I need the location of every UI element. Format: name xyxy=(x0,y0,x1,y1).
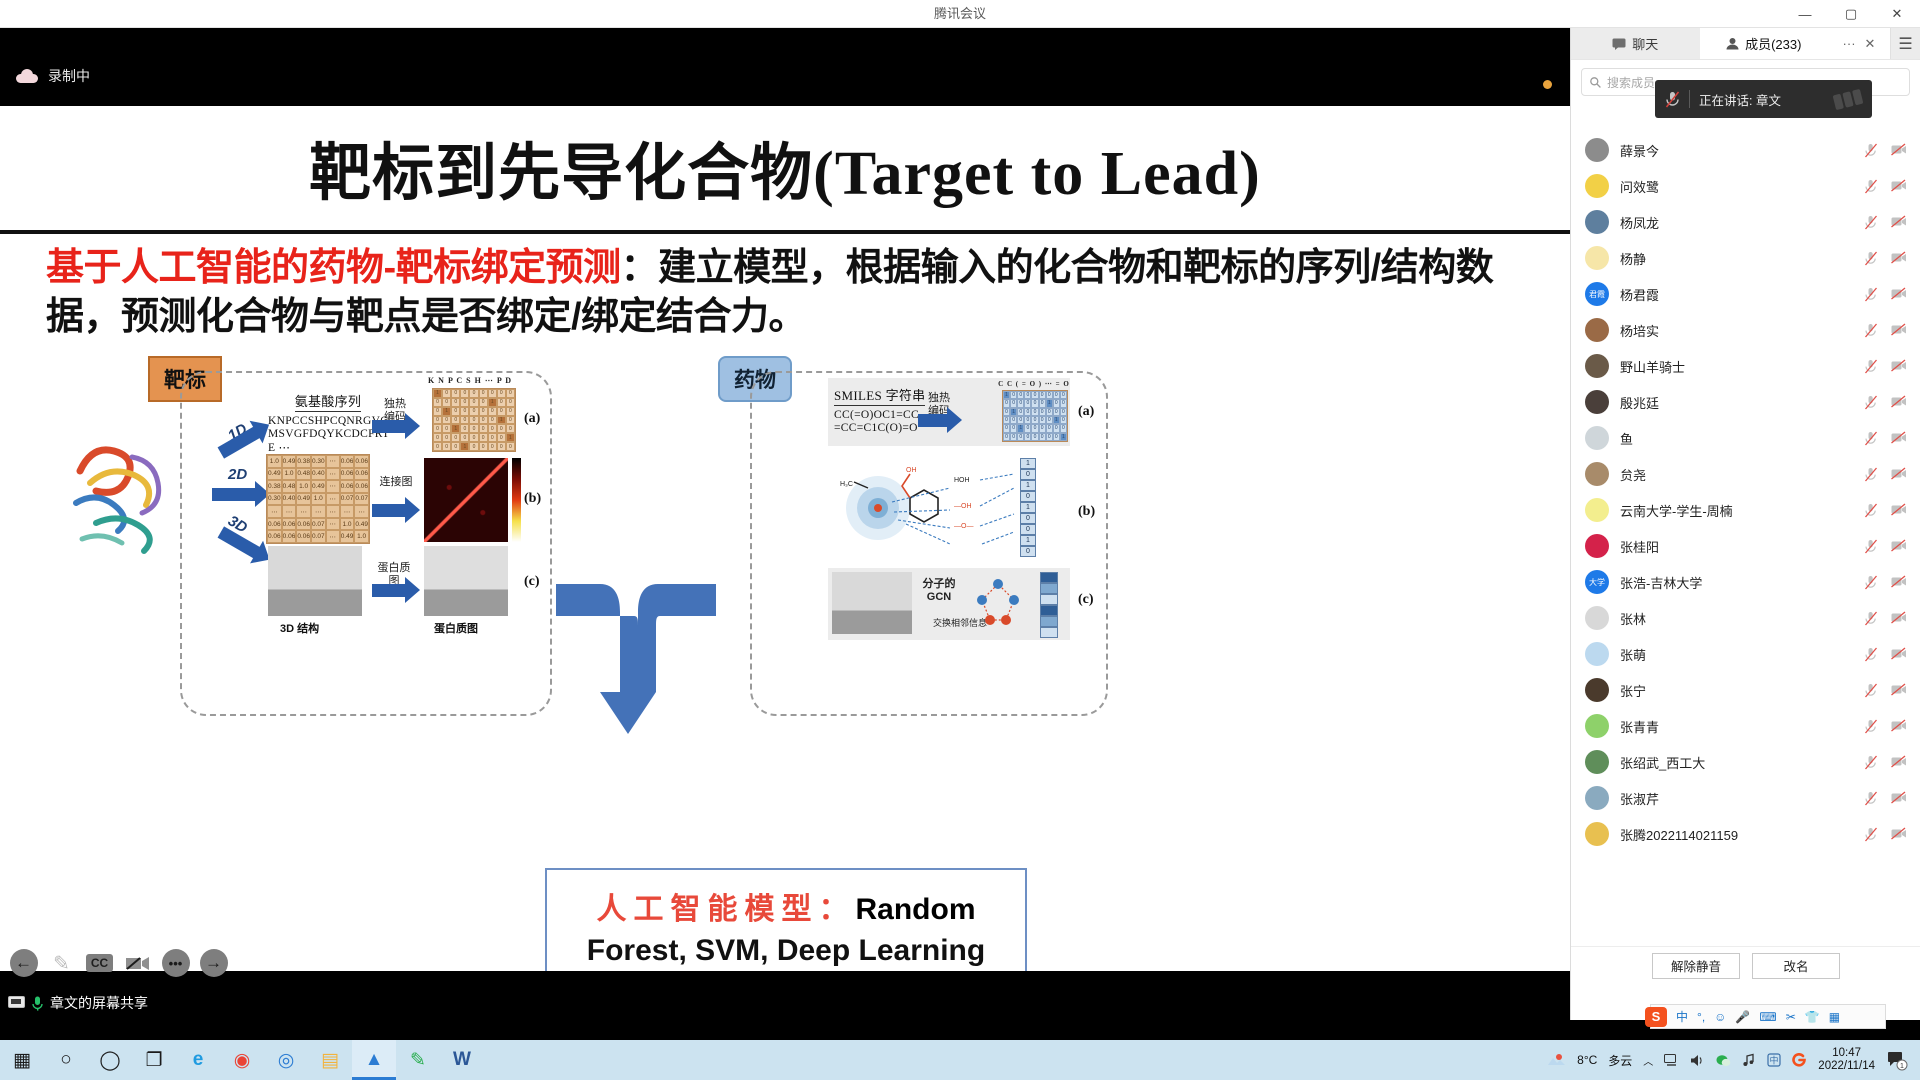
matrix-cell: 0 xyxy=(460,407,469,416)
matrix-cell: 1 xyxy=(1046,399,1053,407)
camera-off-icon[interactable] xyxy=(1891,791,1907,804)
distance-cell: ⋯ xyxy=(311,505,326,518)
participant-name: 张青青 xyxy=(1620,717,1659,736)
mic-off-icon[interactable] xyxy=(1864,359,1878,374)
recording-indicator: 录制中 xyxy=(16,66,90,86)
participant-status-icons xyxy=(1864,503,1907,518)
matrix-cell: 0 xyxy=(1039,416,1046,424)
distance-cell: ⋯ xyxy=(282,505,297,518)
clock-date: 2022/11/14 xyxy=(1818,1060,1875,1073)
matrix-cell: 0 xyxy=(451,407,460,416)
panel-menu-button[interactable]: ☰ xyxy=(1890,28,1920,59)
camera-off-icon[interactable] xyxy=(1891,539,1907,552)
camera-off-icon[interactable] xyxy=(1891,611,1907,624)
bit-cell: 0 xyxy=(1020,513,1036,524)
participant-row[interactable]: 杨培实 xyxy=(1571,312,1920,348)
matrix-cell: 0 xyxy=(497,442,506,451)
camera-off-icon[interactable] xyxy=(1891,287,1907,300)
wechat-icon[interactable]: ✎ xyxy=(396,1040,440,1080)
camera-off-icon[interactable] xyxy=(1891,251,1907,264)
ime-item[interactable]: ▦ xyxy=(1829,1010,1840,1024)
matrix-cell: 0 xyxy=(451,433,460,442)
mark-a-left: (a) xyxy=(524,411,540,427)
avatar xyxy=(1585,642,1609,666)
matrix-cell: 0 xyxy=(1039,399,1046,407)
sequence-line-1: KNPCCSHPCQNRGVC xyxy=(268,415,388,429)
struct-caption: 3D 结构 xyxy=(280,620,319,636)
camera-off-icon[interactable] xyxy=(1891,683,1907,696)
participant-name: 殷兆廷 xyxy=(1620,393,1659,412)
ime-tray-icon[interactable]: 中 xyxy=(1767,1053,1781,1067)
search-icon[interactable]: ○ xyxy=(44,1040,88,1080)
participant-row[interactable]: 薛景今 xyxy=(1571,132,1920,168)
tab-members-label: 成员(233) xyxy=(1745,34,1801,53)
tencent-meeting-icon-glyph: ▲ xyxy=(365,1049,384,1071)
onehot-matrix-target: 1000000000000001000100000000000000100010… xyxy=(432,388,516,452)
person-icon xyxy=(1726,37,1739,50)
gcn-label: 分子的 GCN xyxy=(918,578,960,603)
matrix-cell: 0 xyxy=(1039,433,1046,441)
matrix-cell: 0 xyxy=(1046,424,1053,432)
mark-b-right: (b) xyxy=(1078,504,1095,520)
bit-cell xyxy=(1040,583,1058,594)
matrix-cell: 0 xyxy=(433,416,442,425)
participant-name: 野山羊骑士 xyxy=(1620,357,1685,376)
panel-tabs: 聊天 成员(233) ··· ✕ ☰ xyxy=(1571,28,1920,60)
weather-temp: 8°C xyxy=(1577,1053,1597,1067)
matrix-cell: 0 xyxy=(497,389,506,398)
distance-cell: 1.0 xyxy=(296,480,311,493)
recording-dot-icon xyxy=(1543,80,1552,89)
participant-name: 张林 xyxy=(1620,609,1646,628)
distance-cell: 0.06 xyxy=(354,455,369,468)
participant-status-icons xyxy=(1864,323,1907,338)
audio-wave-icon xyxy=(1833,88,1864,109)
matrix-cell: 0 xyxy=(1010,416,1017,424)
matrix-cell: 0 xyxy=(469,398,478,407)
start-button[interactable]: ▦ xyxy=(0,1040,44,1080)
participant-status-icons xyxy=(1864,755,1907,770)
pen-button[interactable]: ✎ xyxy=(46,948,77,979)
ime-item[interactable]: ☺ xyxy=(1714,1010,1726,1024)
captions-button[interactable]: CC xyxy=(84,948,115,979)
weather-icon[interactable] xyxy=(1546,1053,1566,1068)
dim-label-2d: 2D xyxy=(228,466,247,483)
sogou-ime-toolbar[interactable]: S 中°,☺🎤⌨✂👕▦ xyxy=(1650,1004,1886,1029)
slide-title: 靶标到先导化合物(Target to Lead) xyxy=(0,122,1570,212)
mic-off-icon[interactable] xyxy=(1864,647,1878,662)
participant-status-icons xyxy=(1864,647,1907,662)
participant-row[interactable]: 张桂阳 xyxy=(1571,528,1920,564)
matrix-cell: 0 xyxy=(1031,424,1038,432)
distance-cell: ⋯ xyxy=(326,505,340,518)
mic-off-icon[interactable] xyxy=(1864,431,1878,446)
speaking-label: 正在讲话: 章文 xyxy=(1699,90,1781,109)
minimize-button[interactable]: — xyxy=(1782,0,1828,28)
mic-off-icon[interactable] xyxy=(1864,323,1878,338)
bit-cell: 0 xyxy=(1020,524,1036,535)
panel-close-button[interactable]: ✕ xyxy=(1865,36,1876,52)
distance-cell: 1.0 xyxy=(311,493,326,506)
unmute-button[interactable]: 解除静音 xyxy=(1652,953,1740,979)
svg-text:中: 中 xyxy=(1770,1055,1779,1066)
ai-model-line-1: 人工智能模型：Random xyxy=(597,884,976,928)
window-controls: — ▢ ✕ xyxy=(1782,0,1920,28)
mic-off-icon[interactable] xyxy=(1864,719,1878,734)
avatar xyxy=(1585,426,1609,450)
mark-a-right: (a) xyxy=(1078,404,1094,420)
camera-off-icon[interactable] xyxy=(1891,179,1907,192)
internet-explorer-icon[interactable]: e xyxy=(176,1040,220,1080)
distance-cell: 0.06 xyxy=(354,468,369,481)
matrix-cell: 0 xyxy=(1039,408,1046,416)
speaking-toast: 正在讲话: 章文 xyxy=(1655,80,1872,118)
distance-cell: 0.30 xyxy=(311,455,326,468)
camera-button[interactable] xyxy=(122,948,153,979)
edge-icon[interactable]: ◎ xyxy=(264,1040,308,1080)
participant-row[interactable]: 野山羊骑士 xyxy=(1571,348,1920,384)
ime-item[interactable]: °, xyxy=(1697,1010,1705,1024)
ime-item[interactable]: 👕 xyxy=(1805,1010,1820,1024)
ai-model-box: 人工智能模型：Random Forest, SVM, Deep Learning xyxy=(545,868,1027,971)
camera-off-icon[interactable] xyxy=(1891,431,1907,444)
sogou-icon[interactable] xyxy=(1792,1053,1807,1068)
matrix-cell: 0 xyxy=(469,442,478,451)
participant-name: 问效鹭 xyxy=(1620,177,1659,196)
mic-off-icon[interactable] xyxy=(1864,251,1878,266)
distance-cell: 0.40 xyxy=(311,468,326,481)
participant-status-icons xyxy=(1864,611,1907,626)
mic-off-icon[interactable] xyxy=(1864,755,1878,770)
tab-chat[interactable]: 聊天 xyxy=(1571,28,1700,59)
camera-off-icon[interactable] xyxy=(1891,323,1907,336)
ime-item[interactable]: ⌨ xyxy=(1759,1010,1776,1024)
avatar xyxy=(1585,318,1609,342)
microphone-icon xyxy=(32,996,43,1011)
mic-off-icon[interactable] xyxy=(1864,395,1878,410)
mic-off-icon[interactable] xyxy=(1864,575,1878,590)
bit-cell: 1 xyxy=(1020,535,1036,546)
bit-cell xyxy=(1040,627,1058,638)
participant-row[interactable]: 大学张浩-吉林大学 xyxy=(1571,564,1920,600)
matrix-cell: 0 xyxy=(469,389,478,398)
smiles-matrix-col-headers: C C ( = O ) ⋯ = O xyxy=(998,380,1070,388)
molecular-graph-icon xyxy=(962,570,1034,632)
mic-off-icon[interactable] xyxy=(1864,791,1878,806)
matrix-cell: 0 xyxy=(1046,433,1053,441)
panel-more-button[interactable]: ··· xyxy=(1843,36,1856,51)
slide-body-text: 基于人工智能的药物-靶标绑定预测：建立模型，根据输入的化合物和靶标的序列/结构数… xyxy=(46,244,1521,341)
graph-caption: 蛋白质图 xyxy=(434,620,478,636)
participant-row[interactable]: 殷兆廷 xyxy=(1571,384,1920,420)
avatar xyxy=(1585,210,1609,234)
participant-row[interactable]: 张宁 xyxy=(1571,672,1920,708)
participant-name: 张淑芹 xyxy=(1620,789,1659,808)
matrix-cell: 0 xyxy=(1024,416,1031,424)
mic-off-icon[interactable] xyxy=(1864,539,1878,554)
matrix-cell: 0 xyxy=(460,416,469,425)
bit-cell: 0 xyxy=(1020,546,1036,557)
participant-row[interactable]: 贠尧 xyxy=(1571,456,1920,492)
camera-off-icon[interactable] xyxy=(1891,647,1907,660)
distance-cell: 1.0 xyxy=(267,455,282,468)
matrix-cell: 1 xyxy=(460,442,469,451)
matrix-cell: 0 xyxy=(1060,424,1067,432)
matrix-cell: 0 xyxy=(1010,399,1017,407)
avatar: 君霞 xyxy=(1585,282,1609,306)
participant-status-icons xyxy=(1864,359,1907,374)
matrix-cell: 0 xyxy=(1003,424,1010,432)
participant-row[interactable]: 张淑芹 xyxy=(1571,780,1920,816)
more-options-button[interactable]: ••• xyxy=(160,948,191,979)
gcn-bit-vector xyxy=(1040,572,1058,638)
participant-name: 张绍武_西工大 xyxy=(1620,753,1705,772)
bit-cell: 0 xyxy=(1020,469,1036,480)
network-icon[interactable] xyxy=(1664,1054,1679,1067)
participant-list[interactable]: 薛景今问效鹭杨凤龙杨静君霞杨君霞杨培实野山羊骑士殷兆廷鱼贠尧云南大学-学生-周楠… xyxy=(1571,132,1920,982)
task-view-icon[interactable]: ❐ xyxy=(132,1040,176,1080)
presenter-toolbar: ← ✎ CC ••• → xyxy=(0,940,230,986)
matrix-cell: 0 xyxy=(488,389,497,398)
mic-off-icon[interactable] xyxy=(1864,683,1878,698)
participant-name: 张浩-吉林大学 xyxy=(1620,573,1702,592)
participant-row[interactable]: 问效鹭 xyxy=(1571,168,1920,204)
mark-c-right: (c) xyxy=(1078,592,1094,608)
recording-bar: 录制中 xyxy=(0,44,1570,106)
ime-item[interactable]: ✂ xyxy=(1786,1010,1796,1024)
avatar xyxy=(1585,714,1609,738)
matrix-cell: 0 xyxy=(1003,433,1010,441)
distance-cell: ⋯ xyxy=(354,505,369,518)
participant-name: 张宁 xyxy=(1620,681,1646,700)
arrow-seq-to-matrix xyxy=(372,420,406,433)
tab-members[interactable]: 成员(233) xyxy=(1700,28,1829,59)
cortana-icon[interactable]: ◯ xyxy=(88,1040,132,1080)
participant-status-icons xyxy=(1864,431,1907,446)
volume-icon[interactable] xyxy=(1690,1054,1705,1067)
distance-cell: ⋯ xyxy=(326,468,340,481)
distance-cell: 1.0 xyxy=(340,518,355,531)
bit-cell xyxy=(1040,572,1058,583)
distance-cell: ⋯ xyxy=(326,480,340,493)
participant-row[interactable]: 张腾2022114021159 xyxy=(1571,816,1920,852)
search-placeholder: 搜索成员 xyxy=(1607,74,1655,91)
tray-expand-icon[interactable]: ︿ xyxy=(1643,1053,1653,1068)
avatar xyxy=(1585,354,1609,378)
matrix-cell: 1 xyxy=(506,433,515,442)
distance-cell: 0.06 xyxy=(296,530,311,543)
distance-cell: 0.06 xyxy=(267,518,282,531)
mic-off-icon[interactable] xyxy=(1864,503,1878,518)
rename-button[interactable]: 改名 xyxy=(1752,953,1840,979)
matrix-cell: 0 xyxy=(1060,416,1067,424)
distance-cell: 0.06 xyxy=(296,518,311,531)
participant-name: 杨凤龙 xyxy=(1620,213,1659,232)
bit-cell: 0 xyxy=(1020,491,1036,502)
participant-row[interactable]: 云南大学-学生-周楠 xyxy=(1571,492,1920,528)
distance-cell: 0.38 xyxy=(267,480,282,493)
distance-cell: 0.07 xyxy=(311,518,326,531)
ai-model-en: Random xyxy=(856,893,976,926)
matrix-cell: 0 xyxy=(1060,399,1067,407)
distance-cell: 0.30 xyxy=(267,493,282,506)
windows-taskbar: ▦○◯❐e◉◎▤▲✎W 8°C 多云 ︿ 中 xyxy=(0,1040,1920,1080)
participant-status-icons xyxy=(1864,539,1907,554)
participant-footer: 解除静音 改名 xyxy=(1571,946,1920,984)
window-title-bar: 腾讯会议 — ▢ ✕ xyxy=(0,0,1920,28)
matrix-cell: 0 xyxy=(1024,408,1031,416)
word-icon[interactable]: W xyxy=(440,1040,484,1080)
file-explorer-icon[interactable]: ▤ xyxy=(308,1040,352,1080)
ai-model-line-2: Forest, SVM, Deep Learning xyxy=(587,934,985,968)
matrix-cell: 0 xyxy=(488,416,497,425)
participant-name: 薛景今 xyxy=(1620,141,1659,160)
participant-name: 张桂阳 xyxy=(1620,537,1659,556)
camera-off-icon[interactable] xyxy=(1891,827,1907,840)
distance-cell: 1.0 xyxy=(282,468,297,481)
notification-center-button[interactable]: 1 xyxy=(1886,1049,1908,1071)
participant-row[interactable]: 张萌 xyxy=(1571,636,1920,672)
close-button[interactable]: ✕ xyxy=(1874,0,1920,28)
bit-cell xyxy=(1040,605,1058,616)
ime-item[interactable]: 🎤 xyxy=(1735,1010,1750,1024)
participant-row[interactable]: 张林 xyxy=(1571,600,1920,636)
matrix-cell: 0 xyxy=(1053,433,1060,441)
contact-map-image xyxy=(424,458,508,542)
matrix-cell: 0 xyxy=(1046,416,1053,424)
mic-off-icon[interactable] xyxy=(1864,287,1878,302)
cloud-icon xyxy=(16,69,38,83)
mic-off-icon[interactable] xyxy=(1864,611,1878,626)
svg-text:HOH: HOH xyxy=(954,477,970,484)
matrix-cell: 0 xyxy=(442,433,451,442)
matrix-cell: 0 xyxy=(433,398,442,407)
distance-cell: 0.40 xyxy=(282,493,297,506)
mic-off-icon[interactable] xyxy=(1864,827,1878,842)
mic-off-icon[interactable] xyxy=(1864,215,1878,230)
matrix-cell: 0 xyxy=(451,398,460,407)
protein-3d-structure-image xyxy=(268,546,362,616)
camera-off-icon[interactable] xyxy=(1891,575,1907,588)
matrix-cell: 0 xyxy=(497,398,506,407)
matrix-cell: 1 xyxy=(488,398,497,407)
camera-off-icon[interactable] xyxy=(1891,719,1907,732)
participant-status-icons xyxy=(1864,683,1907,698)
panel-controls: ··· ✕ xyxy=(1828,28,1890,59)
camera-off-icon[interactable] xyxy=(1891,467,1907,480)
distance-cell: 0.06 xyxy=(340,480,355,493)
matrix-cell: 0 xyxy=(479,407,488,416)
meeting-side-panel: 聊天 成员(233) ··· ✕ ☰ 搜索成员 薛景今问效鹭杨凤龙杨静君霞杨君霞… xyxy=(1570,28,1920,1020)
camera-off-icon[interactable] xyxy=(1891,215,1907,228)
camera-off-icon[interactable] xyxy=(1891,755,1907,768)
tencent-meeting-icon[interactable]: ▲ xyxy=(352,1040,396,1080)
participant-row[interactable]: 杨凤龙 xyxy=(1571,204,1920,240)
taskbar-clock[interactable]: 10:47 2022/11/14 xyxy=(1818,1047,1875,1073)
matrix-col-headers: K N P C S H ⋯ P D xyxy=(424,376,516,385)
matrix-cell: 0 xyxy=(460,389,469,398)
matrix-cell: 0 xyxy=(1017,408,1024,416)
wechat-tray-icon[interactable] xyxy=(1716,1054,1731,1067)
ime-item[interactable]: 中 xyxy=(1676,1008,1688,1025)
participant-row[interactable]: 张绍武_西工大 xyxy=(1571,744,1920,780)
protein-graph-image xyxy=(424,546,508,616)
matrix-cell: 0 xyxy=(451,389,460,398)
arrow-table-to-contact xyxy=(372,504,406,517)
matrix-cell: 0 xyxy=(1010,391,1017,399)
distance-cell: 0.48 xyxy=(282,480,297,493)
bit-cell xyxy=(1040,594,1058,605)
arrow-right-icon: → xyxy=(200,949,228,977)
distance-cell: 0.06 xyxy=(340,468,355,481)
camera-off-icon[interactable] xyxy=(1891,143,1907,156)
matrix-cell: 0 xyxy=(506,389,515,398)
ellipsis-icon: ••• xyxy=(162,949,190,977)
avatar xyxy=(1585,174,1609,198)
mark-c-left: (c) xyxy=(524,574,540,590)
participant-status-icons xyxy=(1864,467,1907,482)
participant-row[interactable]: 杨静 xyxy=(1571,240,1920,276)
bit-cell xyxy=(1040,616,1058,627)
matrix-cell: 0 xyxy=(1003,416,1010,424)
matrix-cell: 0 xyxy=(1053,391,1060,399)
matrix-cell: 0 xyxy=(442,398,451,407)
sequence-heading: 氨基酸序列 xyxy=(295,394,362,412)
matrix-cell: 0 xyxy=(488,424,497,433)
mic-off-icon[interactable] xyxy=(1864,143,1878,158)
matrix-cell: 0 xyxy=(1031,416,1038,424)
matrix-cell: 1 xyxy=(1010,408,1017,416)
merge-arrow xyxy=(556,546,716,746)
participant-row[interactable]: 君霞杨君霞 xyxy=(1571,276,1920,312)
mic-off-icon[interactable] xyxy=(1864,179,1878,194)
matrix-cell: 0 xyxy=(1053,399,1060,407)
camera-off-icon[interactable] xyxy=(1891,503,1907,516)
distance-cell: ⋯ xyxy=(326,493,340,506)
slide-body-highlight: 基于人工智能的药物-靶标绑定预测 xyxy=(46,247,621,289)
matrix-cell: 0 xyxy=(433,407,442,416)
music-icon[interactable] xyxy=(1742,1053,1756,1067)
matrix-cell: 0 xyxy=(451,416,460,425)
matrix-cell: 0 xyxy=(451,442,460,451)
search-icon-glyph: ○ xyxy=(60,1049,71,1071)
camera-off-icon[interactable] xyxy=(1891,395,1907,408)
matrix-cell: 0 xyxy=(1060,408,1067,416)
matrix-cell: 0 xyxy=(1017,433,1024,441)
next-slide-button[interactable]: → xyxy=(198,948,229,979)
participant-name: 杨君霞 xyxy=(1620,285,1659,304)
matrix-cell: 0 xyxy=(488,433,497,442)
matrix-cell: 0 xyxy=(460,398,469,407)
participant-row[interactable]: 鱼 xyxy=(1571,420,1920,456)
chrome-icon[interactable]: ◉ xyxy=(220,1040,264,1080)
maximize-button[interactable]: ▢ xyxy=(1828,0,1874,28)
shared-screen-stage: 录制中 靶标到先导化合物(Target to Lead) 基于人工智能的药物-靶… xyxy=(0,28,1570,1020)
previous-slide-button[interactable]: ← xyxy=(8,948,39,979)
mic-off-icon[interactable] xyxy=(1864,467,1878,482)
camera-off-icon[interactable] xyxy=(1891,359,1907,372)
toast-divider xyxy=(1689,90,1690,108)
matrix-cell: 0 xyxy=(497,433,506,442)
pen-icon: ✎ xyxy=(53,951,70,976)
participant-row[interactable]: 张青青 xyxy=(1571,708,1920,744)
presentation-slide: 靶标到先导化合物(Target to Lead) 基于人工智能的药物-靶标绑定预… xyxy=(0,106,1570,971)
participant-name: 贠尧 xyxy=(1620,465,1646,484)
participant-status-icons xyxy=(1864,143,1907,158)
matrix-cell: 0 xyxy=(1024,433,1031,441)
participant-name: 张腾2022114021159 xyxy=(1620,825,1738,844)
matrix-cell: 0 xyxy=(433,433,442,442)
